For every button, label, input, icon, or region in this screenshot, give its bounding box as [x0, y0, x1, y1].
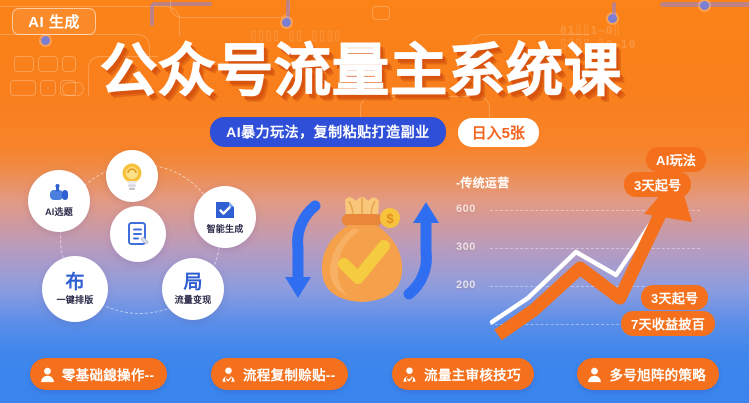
cluster-node-smart-gen[interactable]: 智能生成 [194, 186, 256, 248]
feature-band: 零基础鎴操作-- 流程复制赊贴-- 流量主审核技巧 [0, 345, 749, 403]
decor-square-2 [38, 56, 58, 72]
money-bag-graphic: $ [282, 182, 442, 317]
coin-symbol: $ [386, 211, 394, 226]
annotation-ai-method: AI玩法 [646, 147, 706, 172]
ai-badge-label: AI 生成 [28, 11, 80, 32]
cluster-node-monetize[interactable]: 局 流量变现 [162, 258, 224, 320]
feature-pill-zero-basis[interactable]: 零基础鎴操作-- [30, 358, 167, 390]
cluster-node-label: AI选题 [45, 205, 73, 218]
cluster-node-big-char: 布 [65, 273, 84, 292]
lightbulb-icon [119, 161, 145, 191]
feature-label: 流量主审核技巧 [424, 364, 521, 384]
person-check-icon [401, 366, 418, 383]
decor-bar-3 [286, 0, 290, 20]
feature-label: 流程复制赊贴-- [243, 364, 335, 384]
cluster-node-center-doc[interactable] [110, 206, 166, 262]
cluster-node-ai-topic[interactable]: AI选题 [28, 170, 90, 232]
decor-bar-4 [612, 2, 616, 18]
person-icon [39, 366, 56, 383]
decor-bar-1 [150, 4, 154, 26]
decor-square-5 [40, 80, 56, 96]
decor-cloud-shape [62, 82, 84, 96]
document-pen-icon [124, 220, 152, 248]
subtitle-tag-pill: 日入5张 [458, 118, 539, 147]
cluster-node-label: 一键排版 [57, 293, 94, 306]
decor-node-dot-3 [608, 14, 617, 23]
annotation-income-7days: 7天收益披百 [621, 311, 715, 336]
decor-bar-5 [660, 2, 749, 7]
decor-square-3 [62, 56, 76, 72]
annotation-start-3days-top: 3天起号 [624, 172, 691, 197]
decor-node-dot-1 [41, 36, 50, 45]
decor-square-4 [10, 80, 36, 96]
workflow-cluster: AI选题 智能生成 局 流量变现 [22, 150, 282, 335]
person-icon [586, 366, 603, 383]
check-doc-icon [213, 199, 237, 221]
decor-square-1 [14, 56, 34, 72]
decor-circuit-path-4 [170, 0, 290, 18]
feature-pill-matrix-tactic[interactable]: 多号旭阵的策略 [577, 358, 719, 390]
annotation-start-3days-bottom: 3天起号 [641, 285, 708, 310]
subtitle-main-pill: AI暴力玩法，复制粘贴打造副业 [210, 117, 446, 147]
cluster-node-big-char: 局 [183, 273, 202, 292]
subtitle-row: AI暴力玩法，复制粘贴打造副业 日入5张 [0, 117, 749, 147]
cluster-node-layout[interactable]: 布 一键排版 [42, 256, 108, 322]
cluster-node-label: 流量变现 [175, 293, 212, 306]
person-check-icon [220, 366, 237, 383]
cluster-node-idea[interactable] [106, 150, 158, 202]
promo-banner: ⌷⌷⌷⌷ ⌷⌷ ⌷⌷⌷⌷ 01⌷⌷1—0⌷ ⌷⌷⌷⌷ ⌷0—10 AI 生成 公… [0, 0, 749, 403]
decor-bar-2 [152, 2, 212, 6]
ai-robot-icon [47, 184, 71, 204]
feature-label: 零基础鎴操作-- [62, 364, 154, 384]
decor-square-6 [60, 80, 76, 96]
feature-label: 多号旭阵的策略 [609, 364, 706, 384]
decor-node-dot-4 [700, 1, 709, 10]
money-bag-icon: $ [312, 192, 412, 307]
decor-code-text-2: 01⌷⌷1—0⌷ [560, 24, 621, 37]
feature-pill-review-skills[interactable]: 流量主审核技巧 [392, 358, 534, 390]
growth-chart: -传统运营 600 300 200 AI玩法 3天起号 3天起号 7天收益披百 [448, 160, 748, 345]
decor-node-dot-2 [282, 18, 291, 27]
cluster-node-label: 智能生成 [207, 222, 244, 235]
decor-square-7 [372, 6, 390, 20]
page-title: 公众号流量主系统课 [100, 38, 700, 106]
feature-pill-copy-process[interactable]: 流程复制赊贴-- [211, 358, 348, 390]
ai-generated-badge: AI 生成 [12, 8, 96, 35]
